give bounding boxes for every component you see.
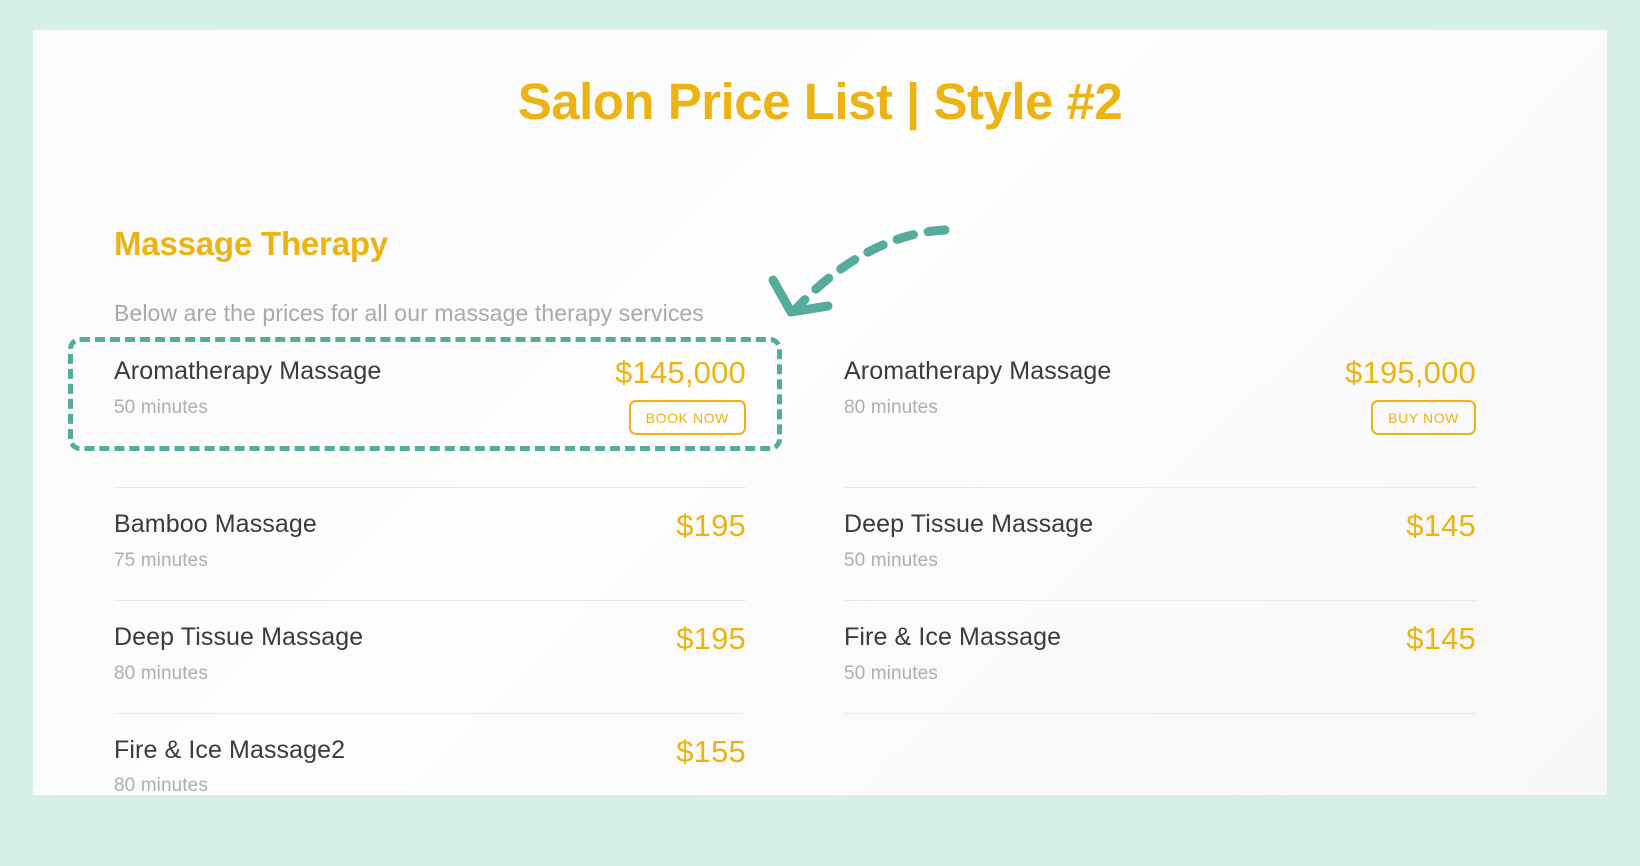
service-name: Aromatherapy Massage: [114, 357, 381, 386]
service-price: $145: [1406, 623, 1476, 654]
service-duration: 80 minutes: [114, 663, 363, 685]
service-price: $145: [1406, 510, 1476, 541]
service-price: $155: [676, 736, 746, 767]
service-info: Deep Tissue Massage50 minutes: [844, 510, 1093, 572]
service-name: Bamboo Massage: [114, 510, 317, 539]
page-frame: Salon Price List | Style #2 Massage Ther…: [0, 0, 1640, 866]
service-info: Fire & Ice Massage50 minutes: [844, 623, 1061, 685]
service-duration: 50 minutes: [844, 663, 1061, 685]
service-price: $145,000: [615, 357, 746, 388]
content-card: Salon Price List | Style #2 Massage Ther…: [33, 30, 1607, 795]
service-info: Deep Tissue Massage80 minutes: [114, 623, 363, 685]
service-duration: 80 minutes: [114, 775, 345, 795]
price-list-grid: Aromatherapy Massage50 minutes$145,000BO…: [114, 335, 1526, 795]
price-row: Deep Tissue Massage50 minutes$145: [844, 488, 1476, 601]
service-duration: 50 minutes: [114, 397, 381, 419]
service-duration: 50 minutes: [844, 550, 1093, 572]
service-price: $195,000: [1345, 357, 1476, 388]
service-price-block: $155: [676, 736, 746, 767]
section-title: Massage Therapy: [114, 225, 388, 263]
service-duration: 75 minutes: [114, 550, 317, 572]
service-price-block: $145: [1406, 623, 1476, 654]
service-info: Aromatherapy Massage80 minutes: [844, 357, 1111, 419]
book-now-button[interactable]: BOOK NOW: [629, 400, 746, 435]
price-row: Bamboo Massage75 minutes$195: [114, 488, 746, 601]
price-row: Fire & Ice Massage280 minutes$155: [114, 714, 746, 796]
service-price: $195: [676, 623, 746, 654]
service-name: Aromatherapy Massage: [844, 357, 1111, 386]
service-name: Deep Tissue Massage: [844, 510, 1093, 539]
service-duration: 80 minutes: [844, 397, 1111, 419]
left-column: Aromatherapy Massage50 minutes$145,000BO…: [114, 335, 820, 795]
page-title: Salon Price List | Style #2: [33, 72, 1607, 131]
price-row: Aromatherapy Massage80 minutes$195,000BU…: [844, 335, 1476, 488]
price-row: Fire & Ice Massage50 minutes$145: [844, 601, 1476, 714]
service-name: Fire & Ice Massage2: [114, 736, 345, 765]
right-column: Aromatherapy Massage80 minutes$195,000BU…: [820, 335, 1526, 795]
section-description: Below are the prices for all our massage…: [114, 300, 704, 327]
service-name: Deep Tissue Massage: [114, 623, 363, 652]
service-name: Fire & Ice Massage: [844, 623, 1061, 652]
service-info: Aromatherapy Massage50 minutes: [114, 357, 381, 419]
service-price-block: $195,000BUY NOW: [1345, 357, 1476, 435]
service-price-block: $195: [676, 510, 746, 541]
service-price-block: $145,000BOOK NOW: [615, 357, 746, 435]
price-row: Aromatherapy Massage50 minutes$145,000BO…: [114, 335, 746, 488]
service-info: Bamboo Massage75 minutes: [114, 510, 317, 572]
book-now-button[interactable]: BUY NOW: [1371, 400, 1476, 435]
price-row: Deep Tissue Massage80 minutes$195: [114, 601, 746, 714]
service-price-block: $145: [1406, 510, 1476, 541]
service-price: $195: [676, 510, 746, 541]
service-info: Fire & Ice Massage280 minutes: [114, 736, 345, 796]
service-price-block: $195: [676, 623, 746, 654]
